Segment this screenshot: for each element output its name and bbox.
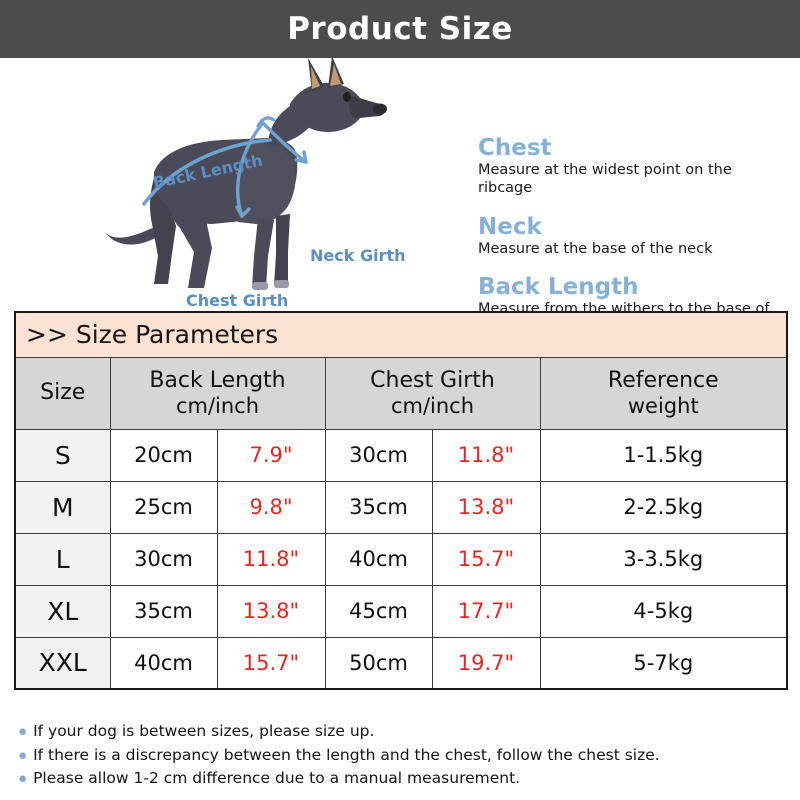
description-neck-heading: Neck (478, 215, 788, 239)
label-neck-girth: Neck Girth (310, 246, 405, 265)
cell-chest-in: 11.8" (432, 429, 540, 481)
description-chest: Chest Measure at the widest point on the… (478, 136, 788, 198)
table-banner-row: >> Size Parameters (15, 312, 787, 357)
list-item: ● If there is a discrepancy between the … (18, 746, 782, 765)
header-back-length: Back Length cm/inch (110, 357, 325, 429)
header-size: Size (15, 357, 110, 429)
table-header-row: Size Back Length cm/inch Chest Girth cm/… (15, 357, 787, 429)
table-row: XXL 40cm 15.7" 50cm 19.7" 5-7kg (15, 637, 787, 689)
bullet-icon: ● (18, 724, 27, 739)
cell-back-in: 11.8" (217, 533, 325, 585)
list-item: ● If your dog is between sizes, please s… (18, 722, 782, 741)
dog-eye-shape (343, 92, 351, 102)
page-header-bar: Product Size (0, 0, 800, 58)
note-text: If there is a discrepancy between the le… (33, 746, 660, 765)
cell-weight: 5-7kg (540, 637, 787, 689)
cell-size: M (15, 481, 110, 533)
table-row: XL 35cm 13.8" 45cm 17.7" 4-5kg (15, 585, 787, 637)
cell-back-in: 13.8" (217, 585, 325, 637)
description-neck: Neck Measure at the base of the neck (478, 215, 788, 259)
header-chest-girth-unit: cm/inch (328, 394, 538, 419)
cell-chest-cm: 50cm (325, 637, 432, 689)
cell-chest-cm: 40cm (325, 533, 432, 585)
dog-measurement-illustration (62, 56, 482, 301)
cell-back-cm: 40cm (110, 637, 217, 689)
cell-weight: 3-3.5kg (540, 533, 787, 585)
header-reference-title: Reference (608, 368, 719, 393)
dog-paw-front-near (252, 282, 268, 290)
table-row: M 25cm 9.8" 35cm 13.8" 2-2.5kg (15, 481, 787, 533)
size-parameters-table-container: >> Size Parameters Size Back Length cm/i… (14, 311, 786, 690)
cell-back-cm: 35cm (110, 585, 217, 637)
dog-paw-front-far (274, 280, 289, 288)
illustration-section: Back Length Neck Girth Chest Girth Chest… (0, 58, 800, 301)
cell-weight: 4-5kg (540, 585, 787, 637)
cell-weight: 1-1.5kg (540, 429, 787, 481)
cell-size: XL (15, 585, 110, 637)
bullet-icon: ● (18, 771, 27, 786)
size-parameters-table: >> Size Parameters Size Back Length cm/i… (14, 311, 788, 690)
cell-size: XXL (15, 637, 110, 689)
note-text: If your dog is between sizes, please siz… (33, 722, 374, 741)
header-back-length-unit: cm/inch (113, 394, 323, 419)
cell-chest-in: 13.8" (432, 481, 540, 533)
header-reference-weight: Reference weight (540, 357, 787, 429)
description-chest-body: Measure at the widest point on the ribca… (478, 162, 788, 197)
cell-back-cm: 20cm (110, 429, 217, 481)
cell-size: S (15, 429, 110, 481)
table-row: S 20cm 7.9" 30cm 11.8" 1-1.5kg (15, 429, 787, 481)
note-text: Please allow 1-2 cm difference due to a … (33, 769, 520, 788)
description-back-length-heading: Back Length (478, 275, 788, 299)
size-parameters-banner: >> Size Parameters (15, 312, 787, 357)
cell-back-cm: 25cm (110, 481, 217, 533)
header-chest-girth-title: Chest Girth (370, 368, 495, 393)
dog-nose-shape (373, 104, 387, 115)
page-title: Product Size (287, 11, 513, 47)
cell-chest-cm: 35cm (325, 481, 432, 533)
cell-back-in: 7.9" (217, 429, 325, 481)
dog-front-leg-far (274, 214, 290, 286)
cell-chest-in: 19.7" (432, 637, 540, 689)
cell-size: L (15, 533, 110, 585)
bullet-icon: ● (18, 748, 27, 763)
header-back-length-title: Back Length (149, 368, 285, 393)
cell-weight: 2-2.5kg (540, 481, 787, 533)
sizing-notes-list: ● If your dog is between sizes, please s… (18, 722, 782, 793)
dog-front-leg-near (252, 218, 274, 288)
cell-chest-in: 15.7" (432, 533, 540, 585)
label-chest-girth: Chest Girth (186, 291, 288, 310)
header-chest-girth: Chest Girth cm/inch (325, 357, 540, 429)
cell-back-in: 15.7" (217, 637, 325, 689)
cell-back-cm: 30cm (110, 533, 217, 585)
cell-chest-cm: 30cm (325, 429, 432, 481)
description-chest-heading: Chest (478, 136, 788, 160)
description-neck-body: Measure at the base of the neck (478, 241, 788, 259)
cell-chest-cm: 45cm (325, 585, 432, 637)
header-reference-unit: weight (543, 394, 785, 419)
cell-chest-in: 17.7" (432, 585, 540, 637)
cell-back-in: 9.8" (217, 481, 325, 533)
list-item: ● Please allow 1-2 cm difference due to … (18, 769, 782, 788)
table-row: L 30cm 11.8" 40cm 15.7" 3-3.5kg (15, 533, 787, 585)
